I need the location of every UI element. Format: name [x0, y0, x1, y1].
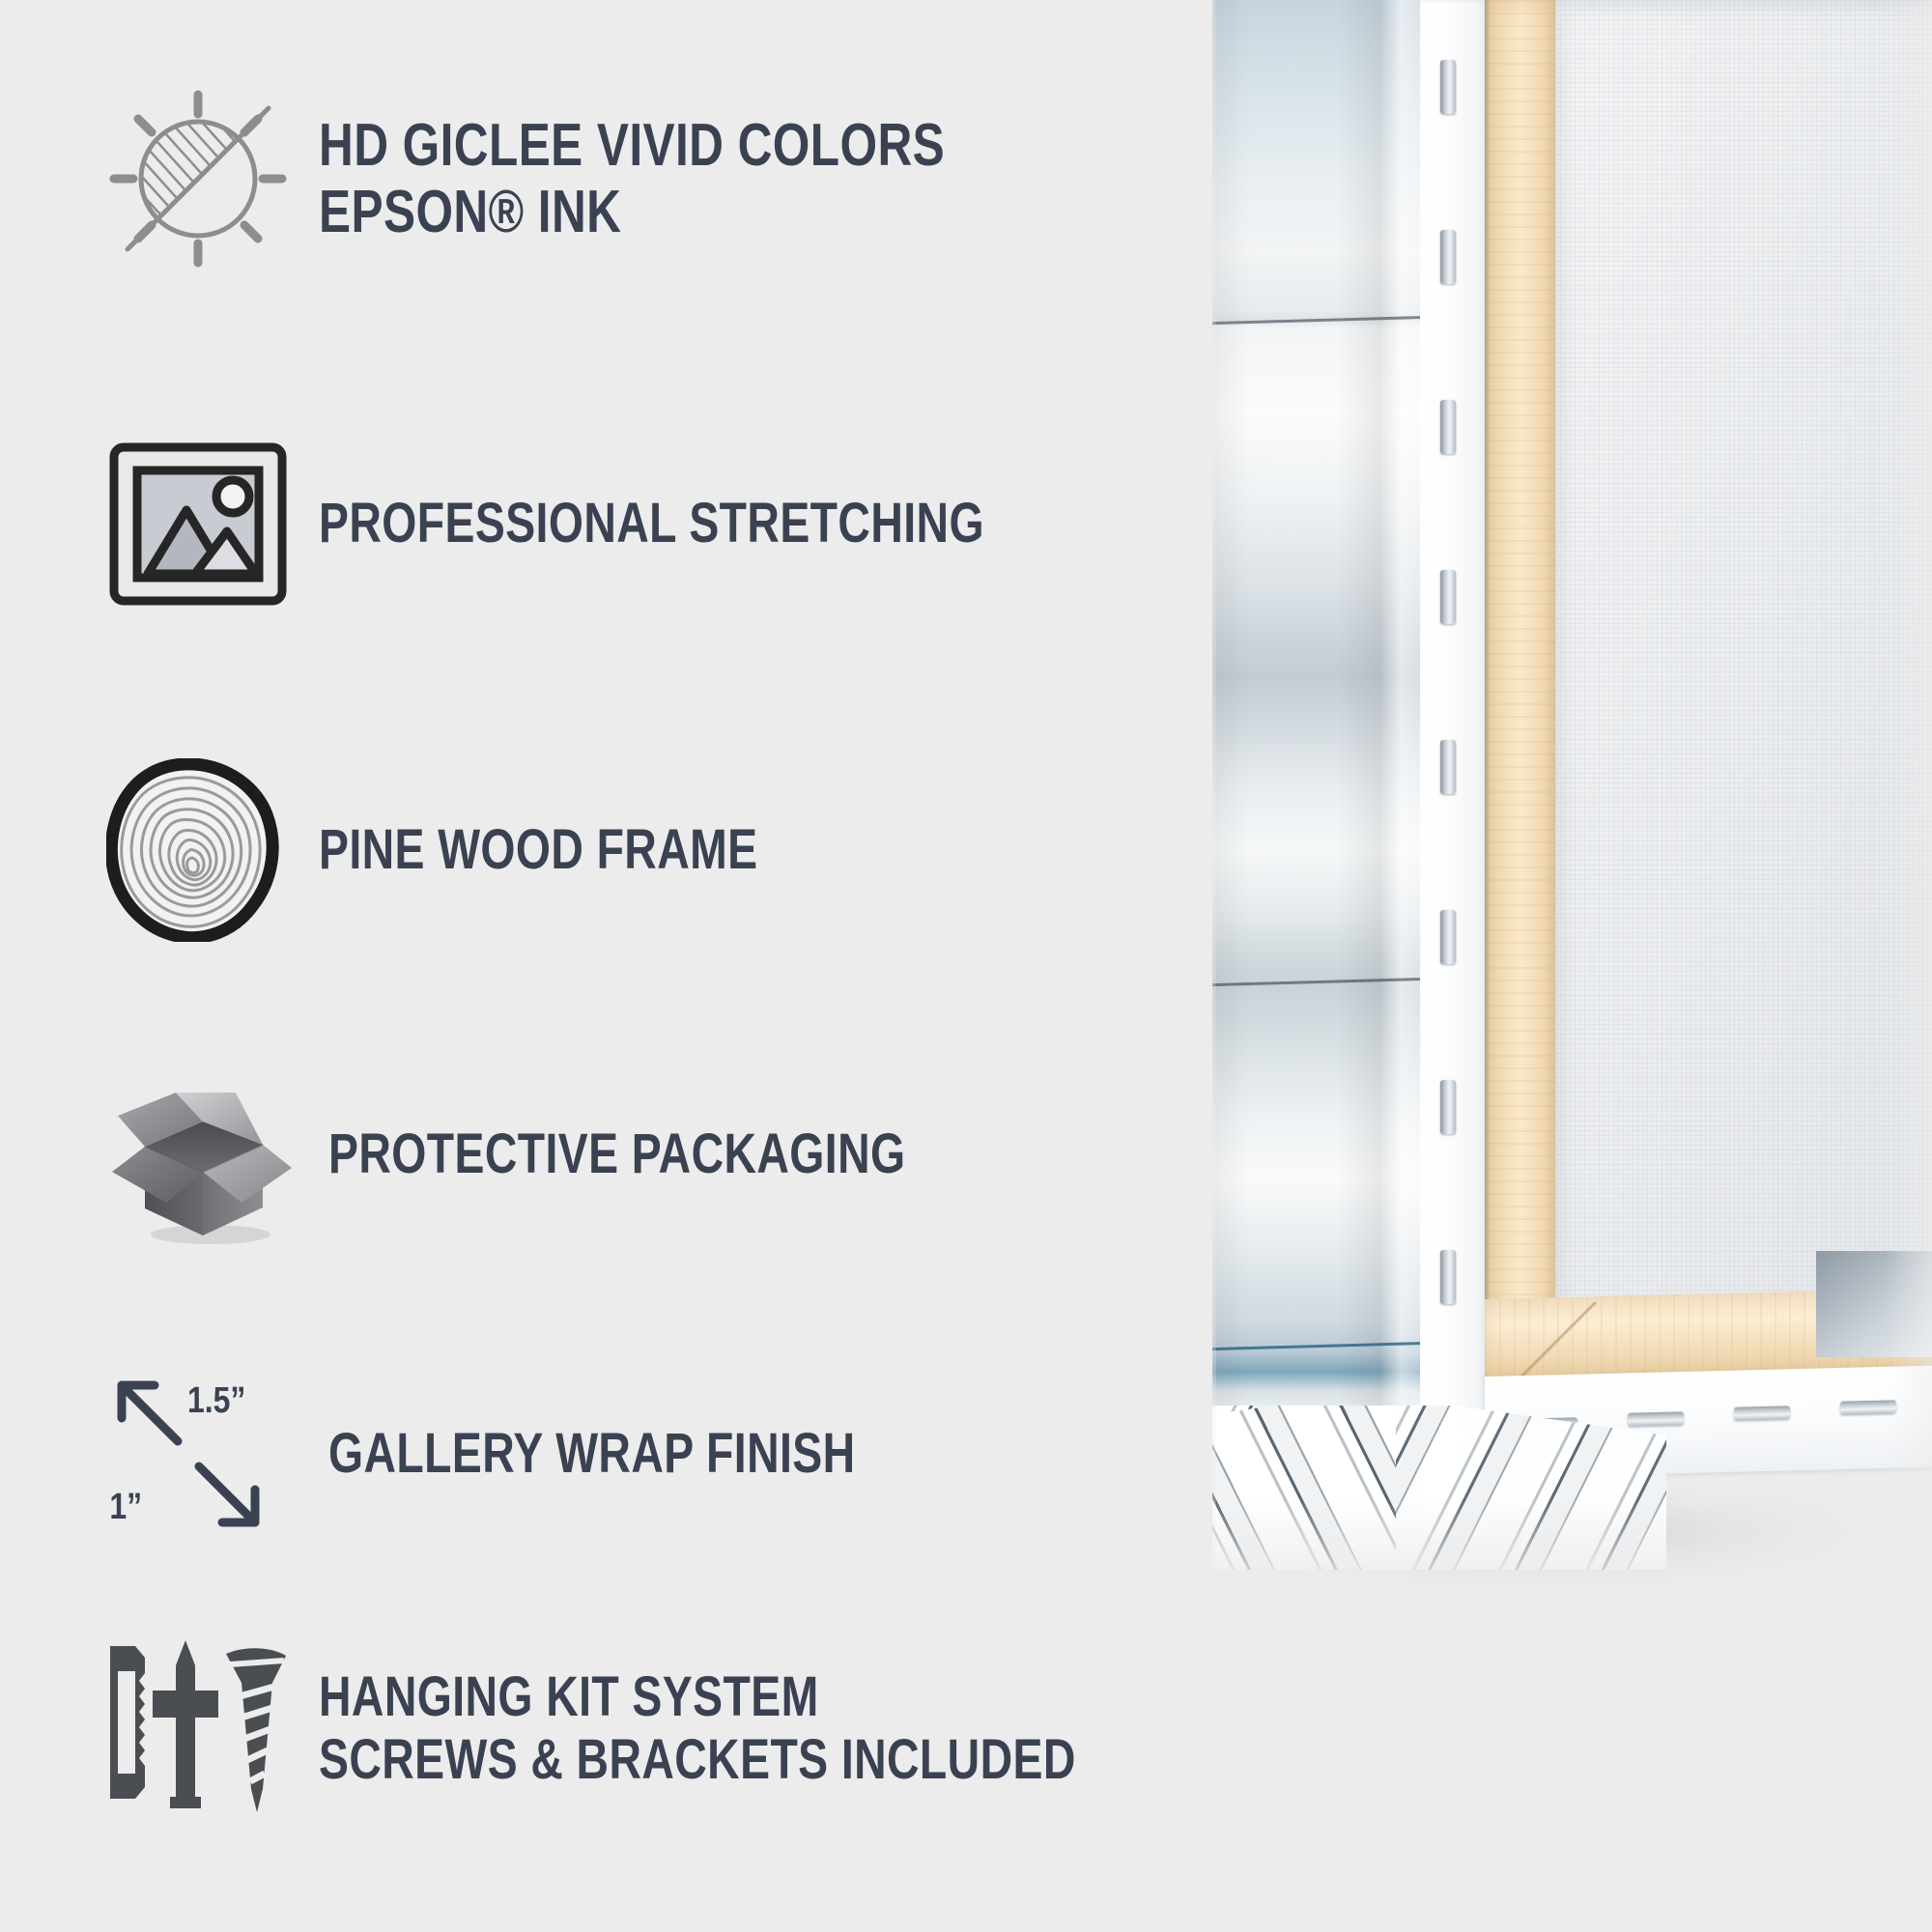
feature-label: GALLERY WRAP FINISH — [328, 1423, 856, 1486]
canvas-back-corner-photo — [1212, 0, 1932, 1570]
feature-label: PINE WOOD FRAME — [319, 819, 758, 882]
cardboard-box-icon — [106, 1058, 299, 1251]
dimension-label-top: 1.5” — [187, 1379, 245, 1420]
feature-label: HANGING KIT SYSTEM SCREWS & BRACKETS INC… — [319, 1666, 1076, 1792]
staple — [1440, 740, 1456, 794]
feature-label: PROTECTIVE PACKAGING — [328, 1123, 906, 1186]
pine-stretcher-bar-vertical — [1485, 0, 1560, 1406]
feature-row-hanging-kit: HANGING KIT SYSTEM SCREWS & BRACKETS INC… — [106, 1633, 1265, 1826]
bottom-fade — [1212, 1406, 1666, 1570]
staple — [1734, 1406, 1790, 1420]
feature-label-line-1: PINE WOOD FRAME — [319, 819, 758, 882]
feature-label-line-2: EPSON® INK — [319, 179, 945, 245]
feature-label-line-2: SCREWS & BRACKETS INCLUDED — [319, 1729, 1076, 1792]
staple — [1440, 400, 1456, 454]
staple — [1440, 60, 1456, 114]
feature-row-gallery-wrap-finish: 1.5” 1” GALLERY WRAP FINISH — [106, 1372, 987, 1536]
feature-row-pine-wood-frame: PINE WOOD FRAME — [106, 758, 867, 942]
infographic-canvas: HD GICLEE VIVID COLORS EPSON® INK PROFES… — [0, 0, 1932, 1932]
feature-list: HD GICLEE VIVID COLORS EPSON® INK PROFES… — [0, 0, 1217, 1932]
staple — [1440, 1080, 1456, 1134]
dimension-label-bottom: 1” — [109, 1486, 142, 1526]
dimension-arrows-icon: 1.5” 1” — [106, 1372, 299, 1536]
feature-row-hd-giclee: HD GICLEE VIVID COLORS EPSON® INK — [106, 87, 1101, 270]
stretcher-bar-edge-shadow — [1485, 0, 1491, 1406]
feature-row-professional-stretching: PROFESSIONAL STRETCHING — [106, 440, 1151, 609]
feature-label-line-1: HANGING KIT SYSTEM — [319, 1666, 1076, 1729]
hanging-hardware-icon — [106, 1633, 290, 1826]
feature-label: PROFESSIONAL STRETCHING — [319, 493, 984, 555]
photo-left-gap — [1212, 0, 1216, 1570]
feature-label-line-1: HD GICLEE VIVID COLORS — [319, 112, 945, 179]
sun-icon — [106, 87, 290, 270]
staple — [1440, 1250, 1456, 1304]
staple — [1440, 230, 1456, 284]
feature-label-line-1: PROTECTIVE PACKAGING — [328, 1123, 906, 1186]
printed-edge-shading — [1212, 0, 1427, 1546]
feature-label-line-1: GALLERY WRAP FINISH — [328, 1423, 856, 1486]
staple — [1440, 570, 1456, 624]
picture-frame-icon — [106, 440, 290, 609]
tree-rings-icon — [106, 758, 280, 942]
feature-row-protective-packaging: PROTECTIVE PACKAGING — [106, 1058, 1050, 1251]
staple — [1440, 910, 1456, 964]
feature-label-line-1: PROFESSIONAL STRETCHING — [319, 493, 984, 555]
photo-right-fade — [1816, 0, 1932, 1570]
feature-label: HD GICLEE VIVID COLORS EPSON® INK — [319, 112, 945, 246]
